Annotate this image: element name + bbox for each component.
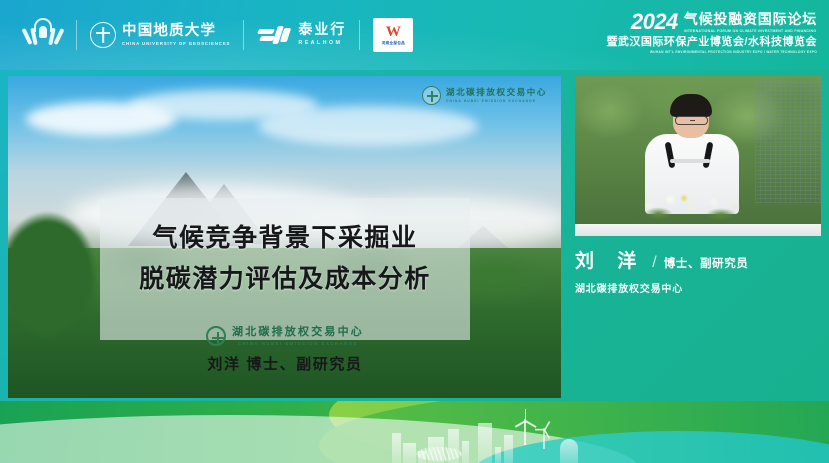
microphone-holder bbox=[670, 159, 710, 163]
university-seal-icon bbox=[90, 22, 116, 48]
speaker-name: 刘 洋 bbox=[575, 246, 645, 273]
byline-logo-name-cn: 湖北碳排放权交易中心 bbox=[232, 327, 364, 338]
city-skyline-illustration bbox=[392, 417, 582, 463]
forum-title-cn: 气候投融资国际论坛 bbox=[684, 12, 817, 26]
logo-organizer-emblem bbox=[10, 13, 76, 57]
forum-subtitle-cn: 暨武汉国际环保产业博览会/水科技博览会 bbox=[606, 37, 817, 48]
slide-logo-name-en: CHINA HUBEI EMISSION EXCHANGE bbox=[446, 99, 547, 103]
realhom-name-cn: 泰业行 bbox=[298, 24, 346, 38]
speaker-video-panel[interactable] bbox=[575, 76, 821, 236]
speaker-role: 博士、副研究员 bbox=[664, 255, 749, 271]
slide-title-line-1: 气候竞争背景下采掘业 bbox=[100, 226, 470, 251]
slide-corner-logo: 湖北碳排放权交易中心 CHINA HUBEI EMISSION EXCHANGE bbox=[422, 86, 547, 105]
wing-mark-icon: W bbox=[386, 25, 401, 40]
slide-title-panel: 气候竞争背景下采掘业 脱碳潜力评估及成本分析 bbox=[100, 198, 470, 340]
logo-china-university-of-geosciences: 中国地质大学 CHINA UNIVERSITY OF GEOSCIENCES bbox=[77, 13, 243, 57]
hubei-exchange-mark-icon bbox=[206, 326, 226, 346]
hubei-exchange-mark-icon bbox=[422, 86, 441, 105]
organizer-emblem-icon bbox=[23, 16, 63, 54]
slide-presenter-name: 刘洋 博士、副研究员 bbox=[100, 353, 470, 374]
event-header-bar: 中国地质大学 CHINA UNIVERSITY OF GEOSCIENCES 泰… bbox=[0, 0, 829, 70]
logo-divider-1 bbox=[76, 20, 77, 50]
realhom-mark-icon bbox=[257, 24, 291, 46]
slide-title-line-2: 脱碳潜力评估及成本分析 bbox=[100, 267, 470, 292]
video-display-board bbox=[755, 81, 821, 203]
cloud-shape bbox=[258, 106, 478, 146]
slide-logo-name-cn: 湖北碳排放权交易中心 bbox=[446, 88, 547, 97]
logo-divider-2 bbox=[243, 20, 244, 50]
presentation-slide-panel[interactable]: 湖北碳排放权交易中心 CHINA HUBEI EMISSION EXCHANGE… bbox=[8, 76, 561, 398]
cug-name-cn: 中国地质大学 bbox=[122, 24, 230, 39]
forum-title-en: INTERNATIONAL FORUM ON CLIMATE INVESTMEN… bbox=[684, 29, 817, 33]
speaker-caption: 刘 洋 / 博士、副研究员 湖北碳排放权交易中心 bbox=[575, 246, 821, 308]
logo-hebei-group: W 河威全屋包品 bbox=[360, 13, 426, 57]
logo-divider-3 bbox=[359, 20, 360, 50]
realhom-name-en: REALHOM bbox=[298, 41, 346, 46]
logo-realhom: 泰业行 REALHOM bbox=[244, 13, 359, 57]
speaker-glasses bbox=[675, 116, 708, 125]
speaker-organization: 湖北碳排放权交易中心 bbox=[575, 280, 821, 295]
podium-flower-arrangement bbox=[633, 188, 749, 222]
slide-byline: 湖北碳排放权交易中心 CHINA HUBEI EMISSION EXCHANGE… bbox=[100, 326, 470, 374]
podium-surface bbox=[575, 224, 821, 236]
broadcast-stage: 中国地质大学 CHINA UNIVERSITY OF GEOSCIENCES 泰… bbox=[0, 0, 829, 463]
forum-subtitle-en: WUHAN INT'L ENVIRONMENTAL PROTECTION IND… bbox=[606, 50, 817, 54]
caption-separator: / bbox=[652, 254, 656, 272]
cug-name-en: CHINA UNIVERSITY OF GEOSCIENCES bbox=[122, 42, 230, 46]
forum-year: 2024 bbox=[631, 12, 678, 33]
hebei-group-name: 河威全屋包品 bbox=[382, 41, 405, 46]
forum-title-lockup: 2024 气候投融资国际论坛 INTERNATIONAL FORUM ON CL… bbox=[606, 12, 817, 54]
header-logo-strip: 中国地质大学 CHINA UNIVERSITY OF GEOSCIENCES 泰… bbox=[10, 0, 426, 70]
foreground-tree bbox=[8, 196, 108, 396]
byline-logo-name-en: CHINA HUBEI EMISSION EXCHANGE bbox=[232, 341, 364, 346]
speaker-hair bbox=[670, 94, 712, 117]
bottom-decorative-banner bbox=[0, 401, 829, 463]
